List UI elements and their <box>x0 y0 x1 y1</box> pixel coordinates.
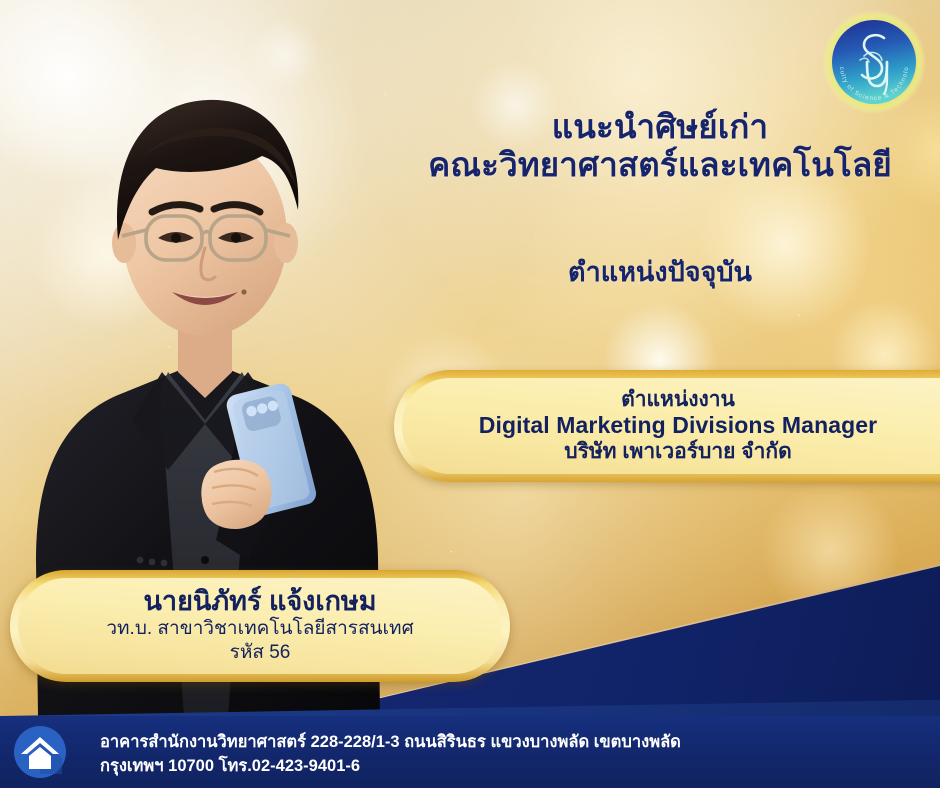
poster-subheadline: ตำแหน่งปัจจุบัน <box>380 250 940 293</box>
alumni-name-card-inner: นายนิภัทร์ แจ้งเกษม วท.บ. สาขาวิชาเทคโนโ… <box>18 578 502 674</box>
poster-headline: แนะนำศิษย์เก่า คณะวิทยาศาสตร์และเทคโนโลย… <box>380 108 940 183</box>
alumni-name: นายนิภัทร์ แจ้งเกษม <box>143 586 376 618</box>
headline-line-1: แนะนำศิษย์เก่า <box>380 108 940 146</box>
alumni-code: รหัส 56 <box>230 641 291 666</box>
logo-badge <box>832 20 916 104</box>
university-logo: Faculty of Science & Technology <box>820 8 928 116</box>
alumni-poster: Faculty of Science & Technology แนะนำศิษ… <box>0 0 940 788</box>
headline-line-2: คณะวิทยาศาสตร์และเทคโนโลยี <box>380 146 940 184</box>
job-label: ตำแหน่งงาน <box>621 388 735 412</box>
footer-address: อาคารสำนักงานวิทยาศาสตร์ 228-228/1-3 ถนน… <box>100 731 910 779</box>
job-company: บริษัท เพาเวอร์บาย จำกัด <box>564 440 792 465</box>
job-title: Digital Marketing Divisions Manager <box>479 412 877 440</box>
footer-address-line-1: อาคารสำนักงานวิทยาศาสตร์ 228-228/1-3 ถนน… <box>100 731 910 755</box>
alumni-name-card: นายนิภัทร์ แจ้งเกษม วท.บ. สาขาวิชาเทคโนโ… <box>10 570 510 682</box>
footer-address-line-2: กรุงเทพฯ 10700 โทร.02-423-9401-6 <box>100 755 910 779</box>
job-position-card: ตำแหน่งงาน Digital Marketing Divisions M… <box>394 370 940 482</box>
home-icon <box>12 724 68 780</box>
job-position-card-inner: ตำแหน่งงาน Digital Marketing Divisions M… <box>402 378 940 474</box>
alumni-degree: วท.บ. สาขาวิชาเทคโนโลยีสารสนเทศ <box>106 618 413 641</box>
